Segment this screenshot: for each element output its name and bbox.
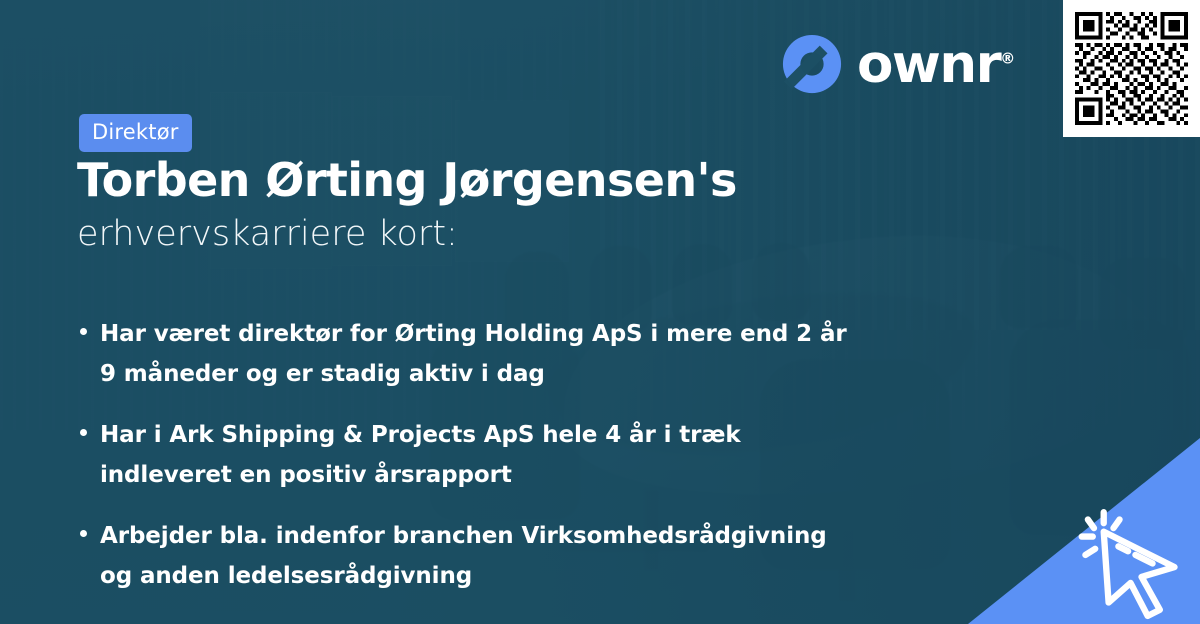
list-item-text: Har i Ark Shipping & Projects ApS hele 4…	[100, 416, 860, 495]
list-item: Har været direktør for Ørting Holding Ap…	[80, 315, 910, 394]
ownr-logo[interactable]: ownr®	[781, 33, 1015, 95]
qr-code-panel[interactable]	[1063, 0, 1200, 137]
qr-code	[1075, 12, 1188, 125]
bullet-dot-icon	[80, 530, 87, 537]
list-item-text: Har været direktør for Ørting Holding Ap…	[100, 315, 860, 394]
bullet-dot-icon	[80, 429, 87, 436]
career-card-canvas: ownr®	[0, 0, 1200, 624]
ownr-wordmark: ownr®	[857, 38, 1015, 91]
career-highlights-list: Har været direktør for Ørting Holding Ap…	[80, 315, 910, 618]
click-cursor-icon	[1072, 500, 1194, 622]
ownr-circle-logo-icon	[781, 33, 843, 95]
corner-accent	[968, 438, 1200, 624]
registered-trademark-icon: ®	[1000, 49, 1015, 67]
page-subtitle: erhvervskarriere kort:	[77, 214, 458, 254]
role-badge: Direktør	[79, 114, 192, 152]
list-item: Arbejder bla. indenfor branchen Virksomh…	[80, 517, 910, 596]
list-item: Har i Ark Shipping & Projects ApS hele 4…	[80, 416, 910, 495]
list-item-text: Arbejder bla. indenfor branchen Virksomh…	[100, 517, 860, 596]
bullet-dot-icon	[80, 328, 87, 335]
page-title: Torben Ørting Jørgensen's	[77, 155, 737, 207]
brand-name: ownr	[857, 34, 1000, 95]
